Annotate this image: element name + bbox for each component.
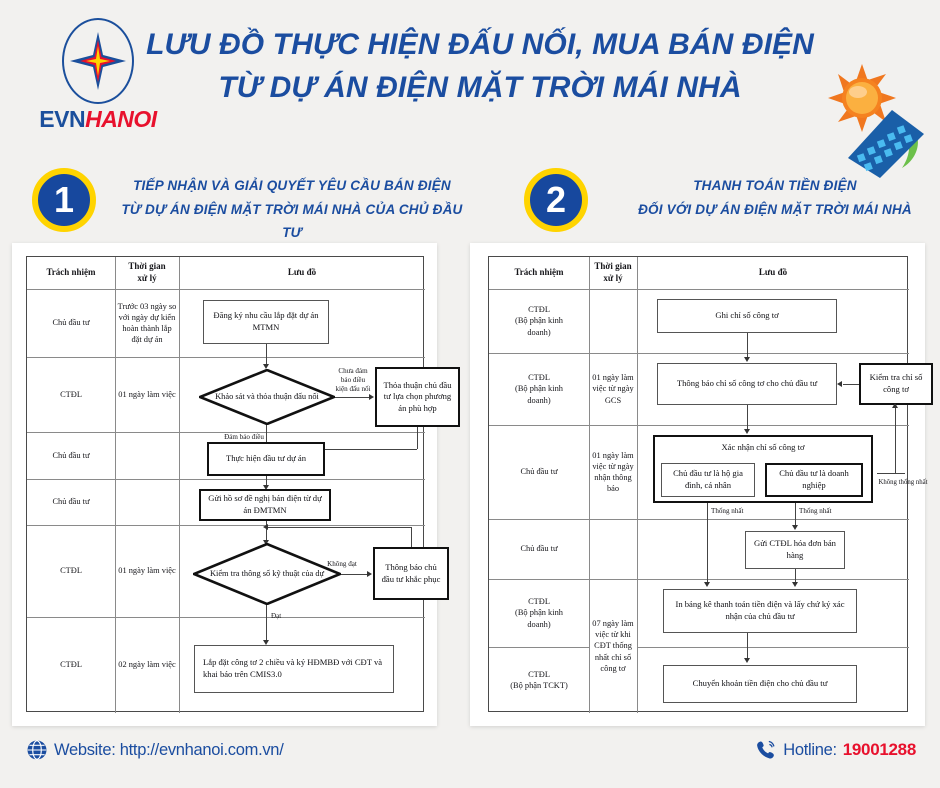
flow-arrow	[411, 527, 412, 547]
resp-line1: CTĐL	[528, 596, 550, 607]
flow-decision-survey[interactable]: Khảo sát và thỏa thuận đấu nối	[199, 369, 335, 425]
flow-arrowhead	[892, 403, 898, 408]
col-header-time-line2: xử lý	[603, 273, 622, 285]
table-row-responsibility: Chủ đầu tư	[27, 289, 115, 357]
flow-arrowhead	[837, 381, 842, 387]
header: EVNHANOI LƯU ĐỒ THỰC HIỆN ĐẤU NỐI, MUA B…	[0, 0, 940, 160]
col-header-flow: Lưu đồ	[179, 257, 425, 289]
flow-arrow	[341, 574, 369, 575]
table-row-responsibility: CTĐL	[27, 617, 115, 713]
table-row-responsibility: Chủ đầu tư	[489, 519, 589, 579]
flow-edge-label-not-qualified: Chưa đảm bảo điều kiện đấu nối	[325, 367, 381, 395]
flow-arrow	[877, 473, 905, 474]
flow-node-owner-enterprise[interactable]: Chủ đầu tư là doanh nghiệp	[765, 463, 863, 497]
table-row-responsibility: CTĐL (Bộ phận TCKT)	[489, 647, 589, 713]
flow-decision-tech-check[interactable]: Kiểm tra thông số kỹ thuật của dự	[193, 543, 341, 605]
footer: Website: http://evnhanoi.com.vn/ Hotline…	[0, 735, 940, 783]
flow-arrowhead	[792, 525, 798, 530]
resp-line1: CTĐL	[528, 372, 550, 383]
flow-arrow	[266, 605, 267, 643]
flow-node-confirm-meter-label: Xác nhận chỉ số công tơ	[721, 442, 804, 454]
table-row-time: 07 ngày làm việc từ khi CĐT thống nhất c…	[589, 579, 637, 713]
col-header-flow: Lưu đồ	[637, 257, 909, 289]
flow-arrow	[843, 384, 859, 385]
column-divider	[179, 257, 180, 713]
flowchart-table-right: Trách nhiệm Thời gian xử lý Lưu đồ CTĐL …	[488, 256, 908, 712]
section-title-2-line2: ĐỐI VỚI DỰ ÁN ĐIỆN MẶT TRỜI MÁI NHÀ	[638, 202, 912, 217]
flow-edge-label-disagree: Không thống nhất	[875, 479, 931, 488]
globe-icon	[26, 739, 48, 761]
flow-arrowhead	[263, 524, 268, 530]
resp-line2: (Bộ phận kinh	[515, 383, 563, 394]
section-title-2-line1: THANH TOÁN TIỀN ĐIỆN	[693, 178, 857, 193]
logo-evn-text: EVN	[39, 106, 85, 132]
table-row-responsibility: CTĐL (Bộ phận kinh doanh)	[489, 353, 589, 425]
flow-node-check-meter[interactable]: Kiểm tra chỉ số công tơ	[859, 363, 933, 405]
edge-label-line1: Đảm bảo điều	[224, 433, 264, 441]
flow-node-send-dossier[interactable]: Gửi hồ sơ đề nghị bán điện từ dự án ĐMTM…	[199, 489, 331, 521]
resp-line3: doanh)	[527, 619, 550, 630]
resp-line1: CTĐL	[528, 304, 550, 315]
col-header-time-line1: Thời gian	[594, 261, 631, 273]
resp-line1: CTĐL	[528, 669, 550, 680]
section-badge-1: 1	[32, 168, 96, 232]
section-heading-2: 2 THANH TOÁN TIỀN ĐIỆN ĐỐI VỚI DỰ ÁN ĐIỆ…	[510, 166, 940, 238]
flow-decision-tech-check-label: Kiểm tra thông số kỹ thuật của dự	[193, 543, 341, 605]
resp-line2: (Bộ phận TCKT)	[510, 680, 568, 691]
evn-star-logo-icon	[66, 30, 130, 92]
flow-node-install-meter[interactable]: Lắp đặt công tơ 2 chiều và ký HĐMBĐ với …	[194, 645, 394, 693]
flow-edge-label-fail: Không đạt	[313, 560, 371, 569]
section-badge-2: 2	[524, 168, 588, 232]
flow-arrowhead	[744, 429, 750, 434]
flow-edge-label-agree-2: Thống nhất	[799, 507, 851, 516]
flow-node-transfer-payment[interactable]: Chuyển khoản tiền điện cho chủ đầu tư	[663, 665, 857, 703]
flow-node-implement-investment[interactable]: Thực hiện đầu tư dự án	[207, 442, 325, 476]
flow-arrow	[417, 427, 418, 449]
table-row-responsibility: Chủ đầu tư	[27, 479, 115, 525]
col-header-responsibility: Trách nhiệm	[489, 257, 589, 289]
resp-line2: (Bộ phận kinh	[515, 315, 563, 326]
footer-hotline[interactable]: Hotline: 19001288	[755, 739, 916, 761]
edge-label-line2: bảo điều	[341, 376, 365, 384]
flowchart-table-left: Trách nhiệm Thời gian xử lý Lưu đồ Chủ đ…	[26, 256, 424, 712]
flow-arrowhead	[744, 658, 750, 663]
logo-wordmark: EVNHANOI	[18, 106, 178, 133]
footer-hotline-label: Hotline:	[783, 741, 837, 760]
flow-arrowhead	[704, 582, 710, 587]
col-header-time: Thời gian xử lý	[589, 257, 637, 289]
flow-arrowhead	[744, 357, 750, 362]
flow-decision-survey-label: Khảo sát và thỏa thuận đấu nối	[199, 369, 335, 425]
flow-node-agreement-option[interactable]: Thỏa thuận chủ đầu tư lựa chọn phương án…	[375, 367, 460, 427]
resp-line2: (Bộ phận kinh	[515, 607, 563, 618]
flow-arrowhead	[367, 571, 372, 577]
col-header-time-line1: Thời gian	[128, 261, 165, 273]
flow-arrow	[747, 333, 748, 359]
table-row-time: Trước 03 ngày so với ngày dự kiến hoàn t…	[115, 289, 179, 357]
table-row-responsibility: CTĐL (Bộ phận kinh doanh)	[489, 579, 589, 647]
page-title-line1: LƯU ĐỒ THỰC HIỆN ĐẤU NỐI, MUA BÁN ĐIỆN	[146, 28, 814, 61]
row-divider	[637, 647, 909, 648]
flow-arrowhead	[792, 582, 798, 587]
flow-node-notify-meter[interactable]: Thông báo chỉ số công tơ cho chủ đầu tư	[657, 363, 837, 405]
section-title-1: TIẾP NHẬN VÀ GIẢI QUYẾT YÊU CẦU BÁN ĐIỆN…	[114, 174, 470, 245]
table-row-responsibility: CTĐL	[27, 357, 115, 432]
section-title-2: THANH TOÁN TIỀN ĐIỆN ĐỐI VỚI DỰ ÁN ĐIỆN …	[610, 174, 940, 221]
infographic-page: EVNHANOI LƯU ĐỒ THỰC HIỆN ĐẤU NỐI, MUA B…	[0, 0, 940, 788]
footer-hotline-number: 19001288	[843, 740, 916, 760]
flow-arrow	[266, 344, 267, 366]
footer-website[interactable]: Website: http://evnhanoi.com.vn/	[26, 739, 283, 761]
edge-label-line3: kiện đấu nối	[335, 385, 370, 393]
flow-arrow	[707, 503, 708, 585]
flow-arrow	[895, 407, 896, 473]
table-row-responsibility: CTĐL (Bộ phận kinh doanh)	[489, 289, 589, 353]
flow-arrow	[267, 527, 411, 528]
table-row-time: 01 ngày làm việc từ ngày nhận thông báo	[589, 425, 637, 519]
col-header-responsibility: Trách nhiệm	[27, 257, 115, 289]
flow-node-register-demand[interactable]: Đăng ký nhu cầu lắp đặt dự án MTMN	[203, 300, 329, 344]
flow-node-notify-fix[interactable]: Thông báo chủ đầu tư khắc phục	[373, 547, 449, 600]
table-row-responsibility: Chủ đầu tư	[489, 425, 589, 519]
flow-node-print-statement[interactable]: In bảng kê thanh toán tiền điện và lấy c…	[663, 589, 857, 633]
section-title-1-line1: TIẾP NHẬN VÀ GIẢI QUYẾT YÊU CẦU BÁN ĐIỆN	[133, 178, 451, 193]
footer-website-label: Website: http://evnhanoi.com.vn/	[54, 741, 283, 760]
flow-arrow	[747, 405, 748, 431]
resp-line3: doanh)	[527, 395, 550, 406]
section-heading-1: 1 TIẾP NHẬN VÀ GIẢI QUYẾT YÊU CẦU BÁN ĐI…	[18, 166, 468, 238]
table-row-time: 01 ngày làm việc	[115, 525, 179, 617]
flow-node-record-meter[interactable]: Ghi chỉ số công tơ	[657, 299, 837, 333]
flow-edge-label-pass: Đạt	[271, 612, 305, 621]
logo-hanoi-text: HANOI	[85, 106, 157, 132]
flow-node-send-invoice[interactable]: Gửi CTĐL hóa đơn bán hàng	[745, 531, 845, 569]
flowchart-panel-left: Trách nhiệm Thời gian xử lý Lưu đồ Chủ đ…	[12, 243, 437, 726]
table-row-time: 01 ngày làm việc từ ngày GCS	[589, 353, 637, 425]
col-header-time: Thời gian xử lý	[115, 257, 179, 289]
table-row-time: 02 ngày làm việc	[115, 617, 179, 713]
edge-label-line1: Chưa đảm	[338, 367, 367, 375]
table-row-responsibility: Chủ đầu tư	[27, 432, 115, 479]
column-divider	[637, 257, 638, 713]
table-row-time: 01 ngày làm việc	[115, 357, 179, 432]
sun-solar-panel-icon	[818, 62, 936, 180]
flow-arrow	[747, 633, 748, 661]
flow-edge-label-agree-1: Thống nhất	[711, 507, 763, 516]
flow-arrow	[335, 397, 371, 398]
section-title-1-line2: TỪ DỰ ÁN ĐIỆN MẶT TRỜI MÁI NHÀ CỦA CHỦ Đ…	[121, 202, 462, 241]
phone-icon	[755, 739, 777, 761]
resp-line3: doanh)	[527, 327, 550, 338]
page-title: LƯU ĐỒ THỰC HIỆN ĐẤU NỐI, MUA BÁN ĐIỆN T…	[130, 24, 830, 109]
flow-node-owner-household[interactable]: Chủ đầu tư là hộ gia đình, cá nhân	[661, 463, 755, 497]
col-header-time-line2: xử lý	[137, 273, 156, 285]
table-row-responsibility: CTĐL	[27, 525, 115, 617]
flowchart-panel-right: Trách nhiệm Thời gian xử lý Lưu đồ CTĐL …	[470, 243, 925, 726]
page-title-line2: TỪ DỰ ÁN ĐIỆN MẶT TRỜI MÁI NHÀ	[130, 67, 830, 110]
flow-arrow	[795, 503, 796, 527]
